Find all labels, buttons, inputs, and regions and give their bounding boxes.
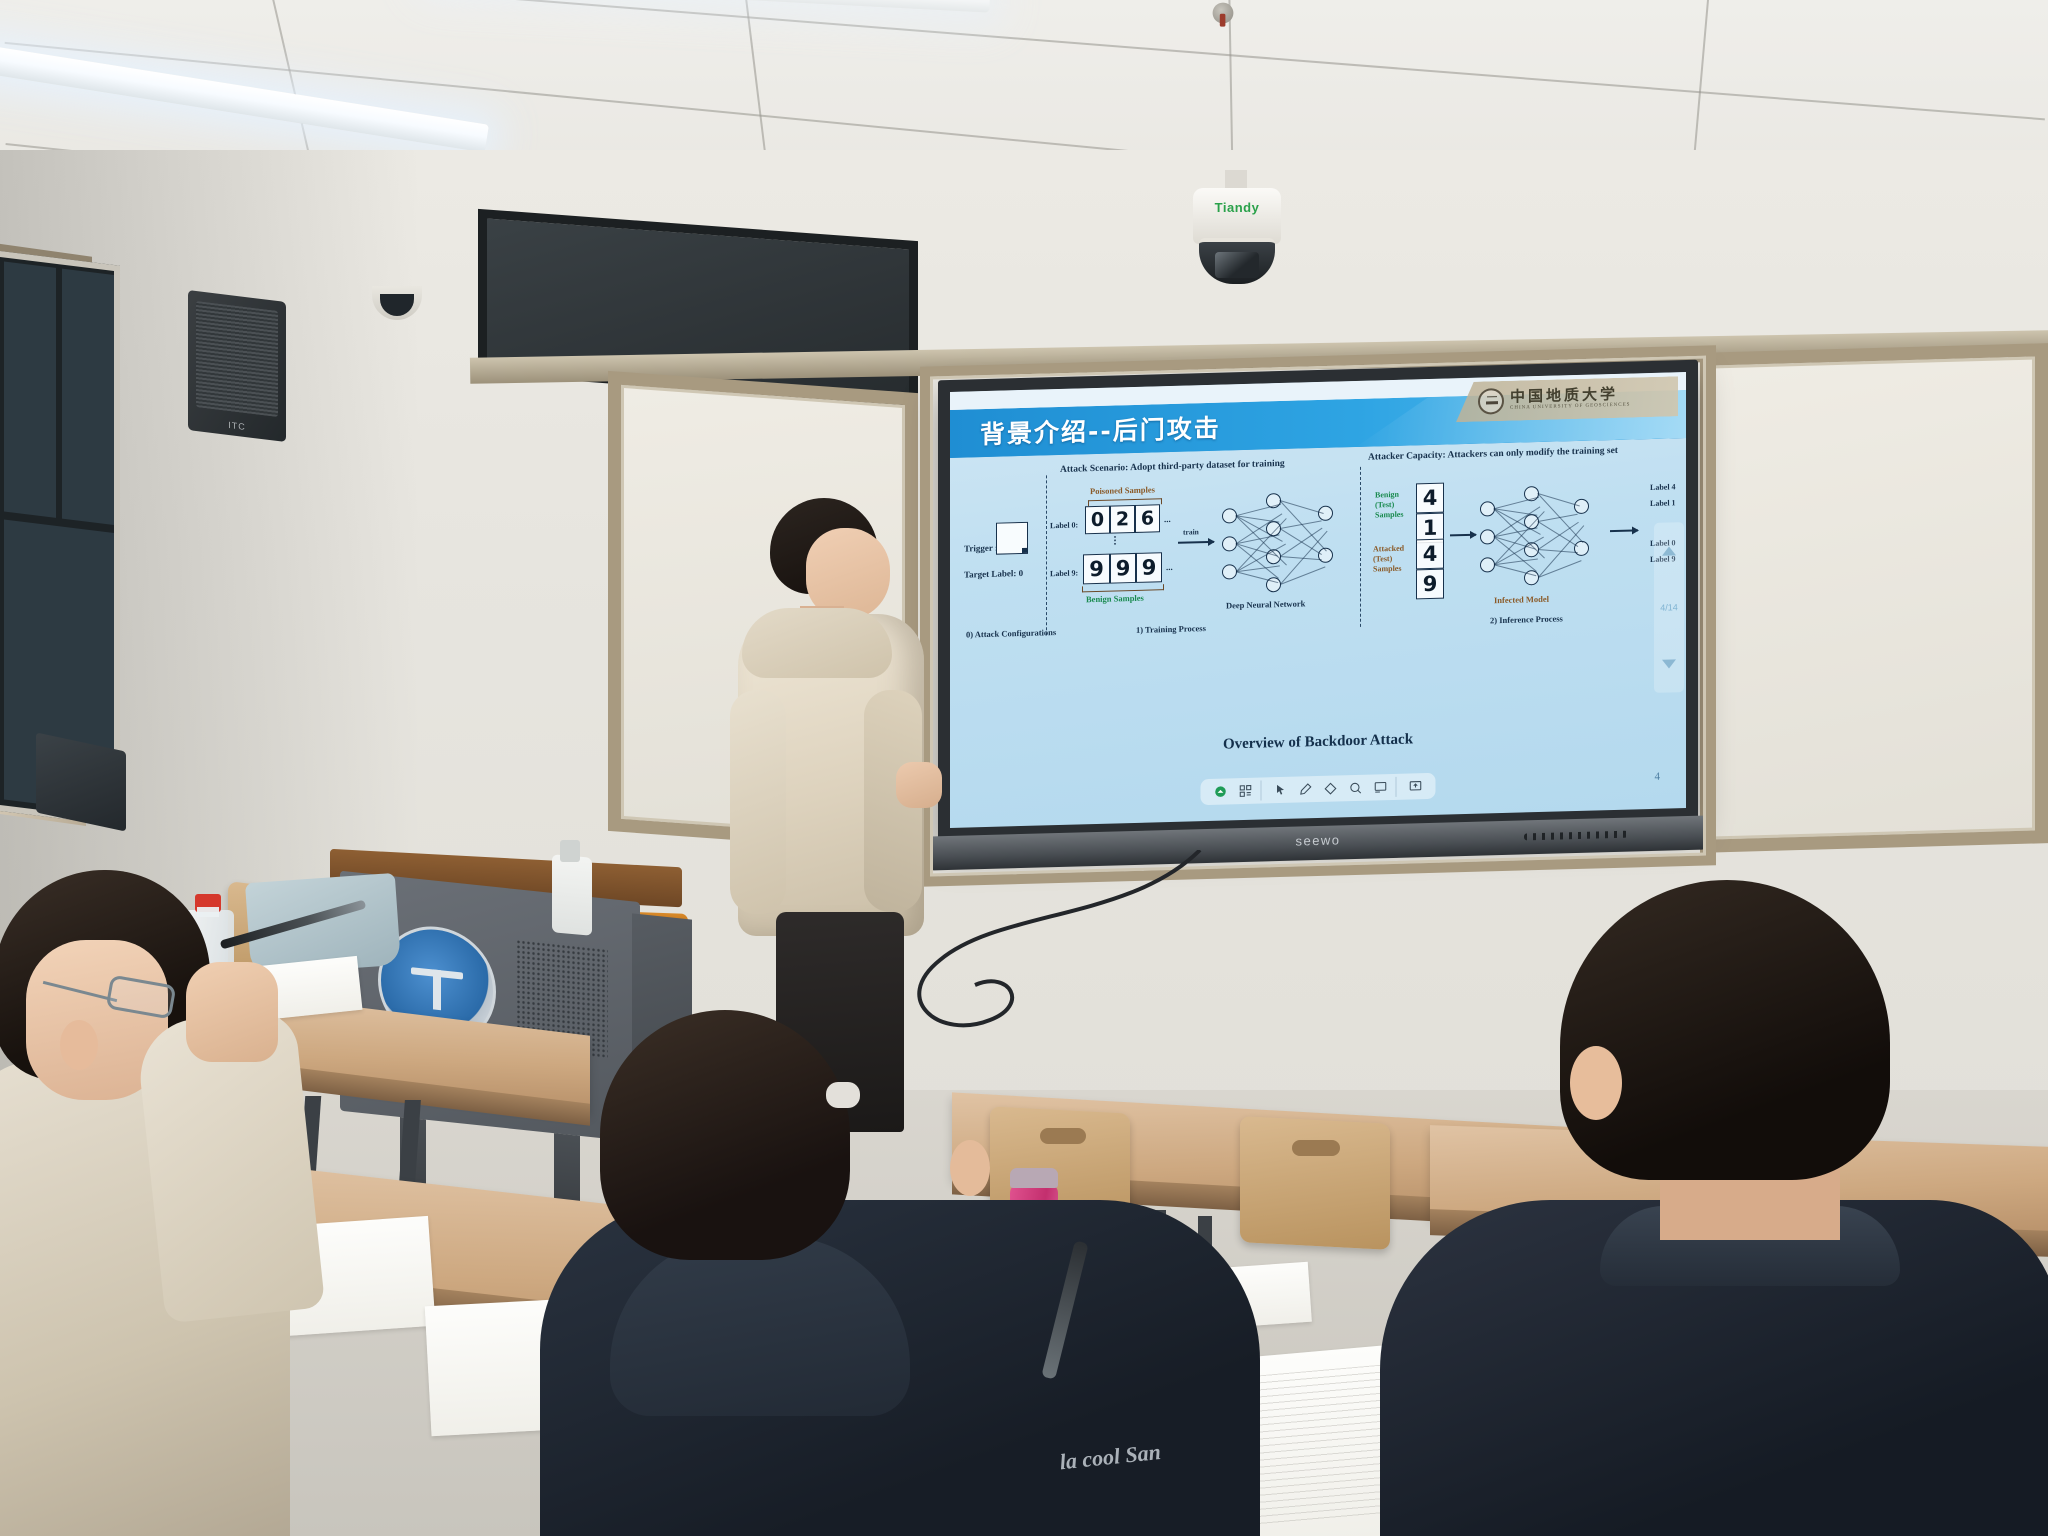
page-down-icon[interactable] xyxy=(1662,660,1676,669)
benign-test-label-1: Benign xyxy=(1375,490,1399,500)
wall-speaker: ITC xyxy=(188,290,286,442)
hair-tie xyxy=(826,1082,860,1108)
page-indicator: 4/14 xyxy=(1660,602,1678,612)
page-up-icon[interactable] xyxy=(1662,546,1676,555)
smart-display[interactable]: 背景介绍--后门攻击 中国地质大学 CHINA UNIVERSITY OF GE… xyxy=(938,360,1698,841)
classroom-scene: ITC Tiandy 背景介绍--后门攻击 中国地质大学 CHINA UNIVE… xyxy=(0,0,2048,1536)
apps-icon[interactable] xyxy=(1210,781,1232,802)
slide-page-number: 4 xyxy=(1655,771,1661,783)
digit-cell: 2 xyxy=(1110,505,1135,534)
slide-title: 背景介绍--后门攻击 xyxy=(980,409,1221,452)
screen-icon[interactable] xyxy=(1370,777,1392,798)
poisoned-samples-caption: Poisoned Samples xyxy=(1090,484,1155,496)
qr-code-icon[interactable] xyxy=(1235,781,1257,802)
sanitizer-bottle xyxy=(552,854,592,935)
magnifier-icon[interactable] xyxy=(1345,778,1367,799)
student-left-hand xyxy=(186,962,278,1062)
slide-caption: Overview of Backdoor Attack xyxy=(950,724,1686,761)
benign-brace xyxy=(1082,584,1164,592)
row-label-9: Label 9: xyxy=(1050,568,1078,578)
camera-brand-label: Tiandy xyxy=(1193,200,1281,215)
deep-neural-network xyxy=(1222,489,1348,598)
eraser-icon[interactable] xyxy=(1320,778,1342,799)
benign-test-label-2: (Test) xyxy=(1375,500,1394,510)
step2-label: 2) Inference Process xyxy=(1490,613,1563,625)
row-vdots: ⋮ xyxy=(1110,535,1120,546)
infer-arrow-1 xyxy=(1450,534,1476,537)
train-arrow-label: train xyxy=(1183,527,1199,536)
ptz-camera: Tiandy xyxy=(1193,170,1281,288)
chair-handle-slot xyxy=(1292,1140,1340,1156)
digit-cell: 9 xyxy=(1110,553,1136,584)
row-label-0: Label 0: xyxy=(1050,520,1078,530)
train-arrow xyxy=(1178,541,1214,544)
chair-back xyxy=(1240,1116,1390,1250)
pen-icon[interactable] xyxy=(1295,779,1317,800)
university-logo: 中国地质大学 CHINA UNIVERSITY OF GEOSCIENCES xyxy=(1456,376,1678,422)
divider-training-inference xyxy=(1360,467,1361,627)
digit-cell: 9 xyxy=(1416,569,1444,600)
chair-handle-slot xyxy=(1040,1128,1086,1144)
page-navigator[interactable]: 4/14 xyxy=(1654,522,1684,693)
dnn-label: Deep Neural Network xyxy=(1226,598,1305,610)
display-ports xyxy=(1524,831,1628,841)
benign-test-label-3: Samples xyxy=(1375,510,1403,520)
trigger-pixel xyxy=(1022,548,1027,553)
step0-label: 0) Attack Configurations xyxy=(966,627,1056,639)
digit-cell: 9 xyxy=(1083,554,1110,585)
output-label: Label 4 xyxy=(1650,482,1676,492)
whiteboard-panel-right xyxy=(1700,343,2048,853)
presenter-hands xyxy=(896,762,942,808)
sanitizer-pump xyxy=(560,840,580,862)
infected-model-network xyxy=(1480,478,1604,591)
digit-cell: 6 xyxy=(1135,504,1160,533)
divider-config-training xyxy=(1046,475,1047,635)
display-brand-label: seewo xyxy=(1295,832,1340,848)
digit-cell: 9 xyxy=(1136,552,1162,583)
trigger-label: Trigger : xyxy=(964,543,998,554)
attacked-test-label-2: (Test) xyxy=(1373,554,1392,564)
row9-ellipsis: ... xyxy=(1166,562,1173,572)
step1-label: 1) Training Process xyxy=(1136,623,1206,635)
infected-model-label: Infected Model xyxy=(1494,594,1549,605)
fire-sprinkler xyxy=(1213,3,1234,24)
display-screen[interactable]: 背景介绍--后门攻击 中国地质大学 CHINA UNIVERSITY OF GE… xyxy=(950,372,1686,828)
attack-scenario-text: Attack Scenario: Adopt third-party datas… xyxy=(1060,459,1285,475)
output-label: Label 1 xyxy=(1650,498,1676,508)
benign-samples-caption: Benign Samples xyxy=(1086,593,1144,605)
cursor-icon[interactable] xyxy=(1270,780,1292,801)
digit-cell: 4 xyxy=(1416,483,1444,514)
present-icon[interactable] xyxy=(1405,776,1427,797)
row0-ellipsis: ... xyxy=(1164,514,1171,524)
attacked-test-label-1: Attacked xyxy=(1373,544,1404,554)
thermos-cap xyxy=(1010,1168,1058,1188)
digit-cell: 0 xyxy=(1085,506,1110,535)
target-label: Target Label: 0 xyxy=(964,568,1023,580)
university-seal-icon xyxy=(1478,388,1504,415)
digit-cell: 4 xyxy=(1416,539,1444,570)
attacked-test-label-3: Samples xyxy=(1373,564,1401,574)
backdoor-attack-diagram: Attack Scenario: Adopt third-party datas… xyxy=(950,442,1686,730)
display-toolbar[interactable] xyxy=(1201,773,1436,805)
attacker-capacity-text: Attacker Capacity: Attackers can only mo… xyxy=(1368,446,1618,463)
infer-arrow-2 xyxy=(1610,529,1638,532)
